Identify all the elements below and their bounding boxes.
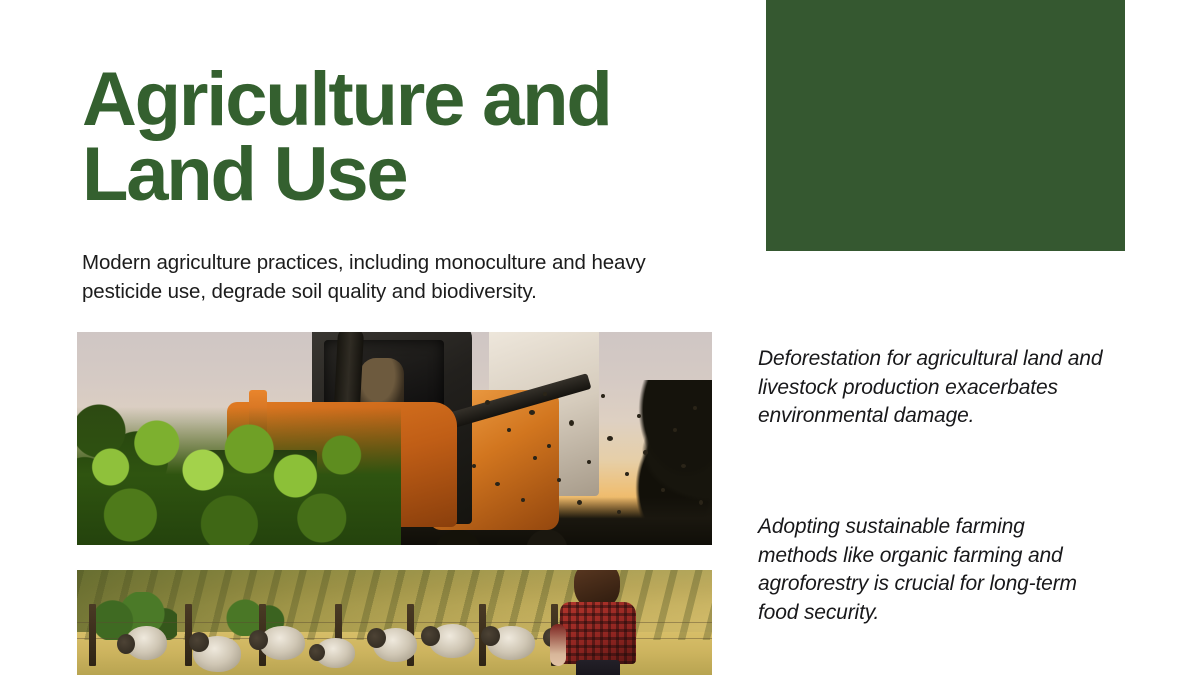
- fence-post: [89, 604, 96, 666]
- person-pants: [576, 660, 620, 675]
- sheep-head: [367, 628, 386, 648]
- sheep-grazing-pasture-photo: [77, 570, 712, 675]
- sheep-head: [309, 644, 325, 661]
- slide-canvas: Agriculture and Land Use Modern agricult…: [0, 0, 1200, 675]
- sheep-head: [249, 630, 268, 650]
- shepherd-person: [554, 570, 640, 675]
- sheep-head: [189, 632, 209, 652]
- grape-harvester-at-sunset-photo: [77, 332, 712, 545]
- right-paragraph-1: Deforestation for agricultural land and …: [758, 345, 1103, 431]
- flying-debris: [77, 332, 712, 545]
- person-arm: [550, 624, 566, 666]
- sheep-head: [481, 626, 500, 646]
- page-title: Agriculture and Land Use: [82, 62, 722, 212]
- person-plaid-shirt: [560, 602, 636, 664]
- subtitle-text: Modern agriculture practices, including …: [82, 248, 727, 306]
- sheep-head: [117, 634, 135, 654]
- green-accent-block: [766, 0, 1125, 251]
- right-paragraph-2: Adopting sustainable farming methods lik…: [758, 513, 1103, 627]
- sheep-head: [421, 626, 440, 646]
